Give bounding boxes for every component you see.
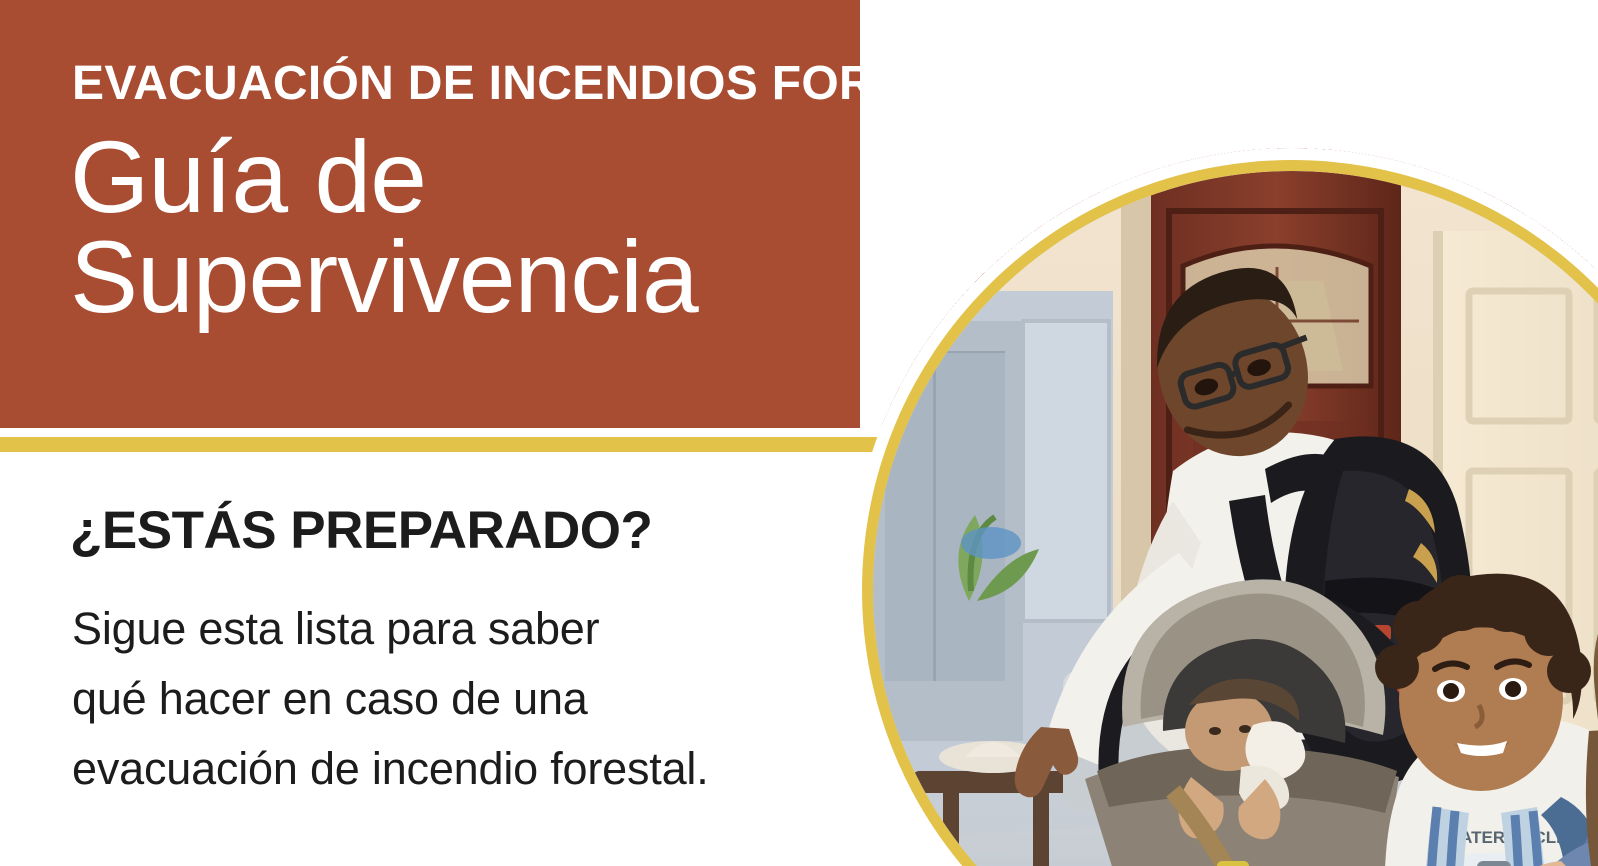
wildfire-evacuation-guide-banner: WATER CYCLE: [0, 0, 1598, 866]
body-paragraph-line-1: Sigue esta lista para saber: [72, 594, 872, 664]
page-title: Guía de Supervivencia: [70, 128, 890, 328]
body-paragraph: Sigue esta lista para saber qué hacer en…: [72, 594, 872, 804]
header-red-block: EVACUACIÓN DE INCENDIOS FORESTALES Guía …: [0, 0, 884, 428]
page-title-line-2: Supervivencia: [70, 228, 890, 328]
gold-rule: [0, 437, 884, 452]
right-white-background-mask: [860, 0, 1598, 866]
subheading: ¿ESTÁS PREPARADO?: [70, 500, 652, 561]
page-title-line-1: Guía de: [70, 128, 890, 228]
body-paragraph-line-3: evacuación de incendio forestal.: [72, 734, 872, 804]
body-paragraph-line-2: qué hacer en caso de una: [72, 664, 872, 734]
